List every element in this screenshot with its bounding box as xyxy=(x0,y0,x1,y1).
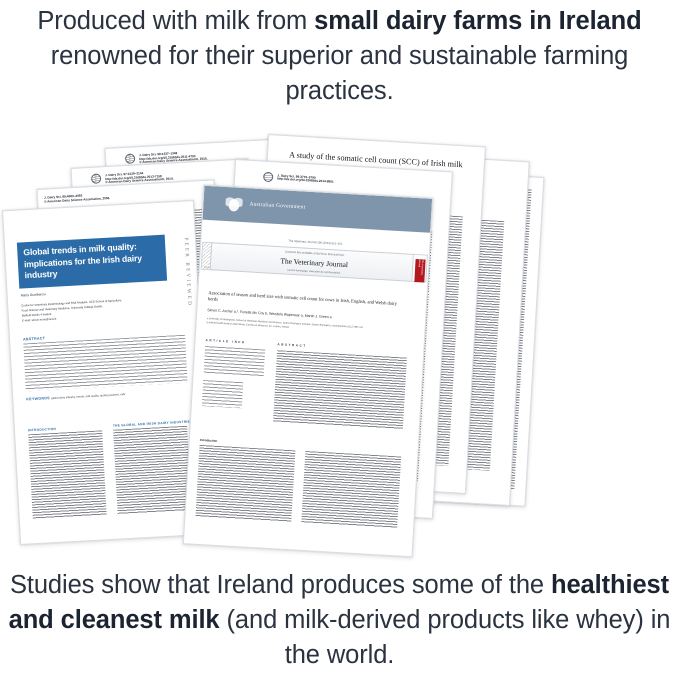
abstract-body xyxy=(273,350,407,429)
paper-title: Global trends in milk quality: implicati… xyxy=(23,240,165,282)
right-paper-front[interactable]: Australian Government The Veterinary Jou… xyxy=(183,185,433,558)
poster-canvas: Produced with milk from small dairy farm… xyxy=(0,0,679,681)
abstract-body xyxy=(23,335,187,392)
paper-email: E-mail: simon.more@ucd.ie xyxy=(22,317,57,323)
introduction-head: Introduction xyxy=(200,438,218,443)
cover-title: The Veterinary Journal xyxy=(417,259,424,280)
keywords-value: global dairy industry, trends, milk qual… xyxy=(51,393,125,400)
footline-text: Studies show that Ireland produces some … xyxy=(0,568,679,673)
intro-column-right xyxy=(301,451,401,528)
peer-reviewed-label: PEER REVIEWED xyxy=(183,237,193,307)
cover-art: The Veterinary Journal xyxy=(414,258,425,282)
section-introduction: INTRODUCTION xyxy=(28,427,56,433)
journal-doi: http://dx.doi.org/10.3168/jds.2014-8901 xyxy=(277,177,334,184)
intro-column-right xyxy=(113,426,191,515)
article-history-block xyxy=(204,346,266,377)
headline-part-2: renowned for their superior and sustaina… xyxy=(51,42,628,105)
footline-part-2: (and milk-derived products like whey) in… xyxy=(220,606,671,669)
left-paper-front[interactable]: Global trends in milk quality: implicati… xyxy=(2,200,212,545)
abstract-label: ABSTRACT xyxy=(23,336,45,341)
journal-cover-thumbnail: The Veterinary Journal xyxy=(411,254,428,283)
dairy-science-globe-icon xyxy=(125,153,136,164)
keywords-block xyxy=(202,380,243,408)
dairy-science-globe-icon xyxy=(263,172,274,183)
paper-title-band: Global trends in milk quality: implicati… xyxy=(17,235,167,289)
article-info-head: ARTICLE INFO xyxy=(205,338,245,344)
paper-author: Maria Guelbenzu xyxy=(21,292,46,297)
headline-bold-1: small dairy farms in Ireland xyxy=(314,7,641,35)
document-collage: J. Dairy Sci. 98:1337–1348 http://dx.doi… xyxy=(0,135,679,550)
headline-part-1: Produced with milk from xyxy=(37,7,314,35)
dairy-science-globe-icon xyxy=(91,173,102,184)
australian-coat-of-arms-icon xyxy=(225,195,243,213)
abstract-head: ABSTRACT xyxy=(277,342,306,348)
intro-column-left xyxy=(28,430,106,519)
keywords-label: KEYWORDS xyxy=(26,396,50,401)
footline-part-1: Studies show that Ireland produces some … xyxy=(10,571,551,599)
intro-column-left xyxy=(195,445,295,522)
australian-government-label: Australian Government xyxy=(249,201,305,210)
headline-text: Produced with milk from small dairy farm… xyxy=(0,4,679,109)
veterinary-journal-masthead: The Veterinary Journal 196 (2013) 515–52… xyxy=(212,234,420,246)
